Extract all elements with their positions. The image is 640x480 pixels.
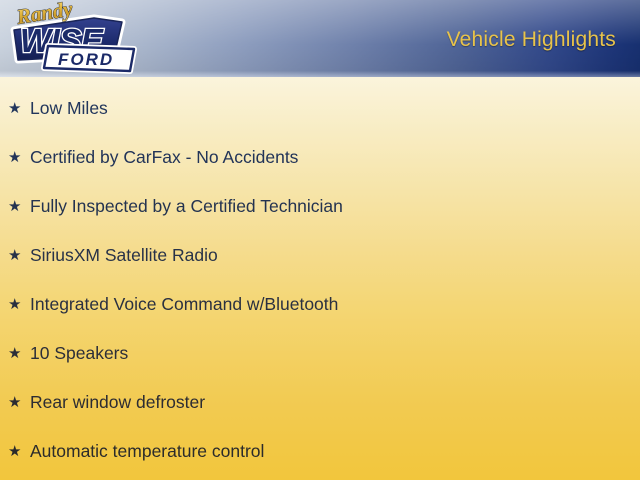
logo-ford-text: FORD — [58, 50, 114, 69]
list-item-label: SiriusXM Satellite Radio — [30, 246, 218, 265]
list-item: ★ Integrated Voice Command w/Bluetooth — [0, 280, 640, 329]
list-item-label: Low Miles — [30, 99, 108, 118]
list-item: ★ Automatic temperature control — [0, 427, 640, 476]
list-item-label: Fully Inspected by a Certified Technicia… — [30, 197, 343, 216]
list-item-label: Integrated Voice Command w/Bluetooth — [30, 295, 338, 314]
highlights-list: ★ Low Miles ★ Certified by CarFax - No A… — [0, 84, 640, 476]
list-item: ★ Low Miles — [0, 84, 640, 133]
list-item: ★ Fully Inspected by a Certified Technic… — [0, 182, 640, 231]
list-item: ★ 10 Speakers — [0, 329, 640, 378]
star-icon: ★ — [8, 395, 30, 410]
list-item: ★ SiriusXM Satellite Radio — [0, 231, 640, 280]
vehicle-highlights-slide: Vehicle Highlights — [0, 0, 640, 480]
list-item: ★ Certified by CarFax - No Accidents — [0, 133, 640, 182]
star-icon: ★ — [8, 346, 30, 361]
list-item-label: Rear window defroster — [30, 393, 205, 412]
star-icon: ★ — [8, 297, 30, 312]
list-item-label: Certified by CarFax - No Accidents — [30, 148, 298, 167]
list-item-label: Automatic temperature control — [30, 442, 264, 461]
list-item-label: 10 Speakers — [30, 344, 128, 363]
star-icon: ★ — [8, 248, 30, 263]
page-title: Vehicle Highlights — [447, 28, 616, 52]
star-icon: ★ — [8, 444, 30, 459]
dealer-logo[interactable]: WISE FORD Randy — [4, 0, 144, 80]
star-icon: ★ — [8, 199, 30, 214]
list-item: ★ Rear window defroster — [0, 378, 640, 427]
star-icon: ★ — [8, 150, 30, 165]
star-icon: ★ — [8, 101, 30, 116]
